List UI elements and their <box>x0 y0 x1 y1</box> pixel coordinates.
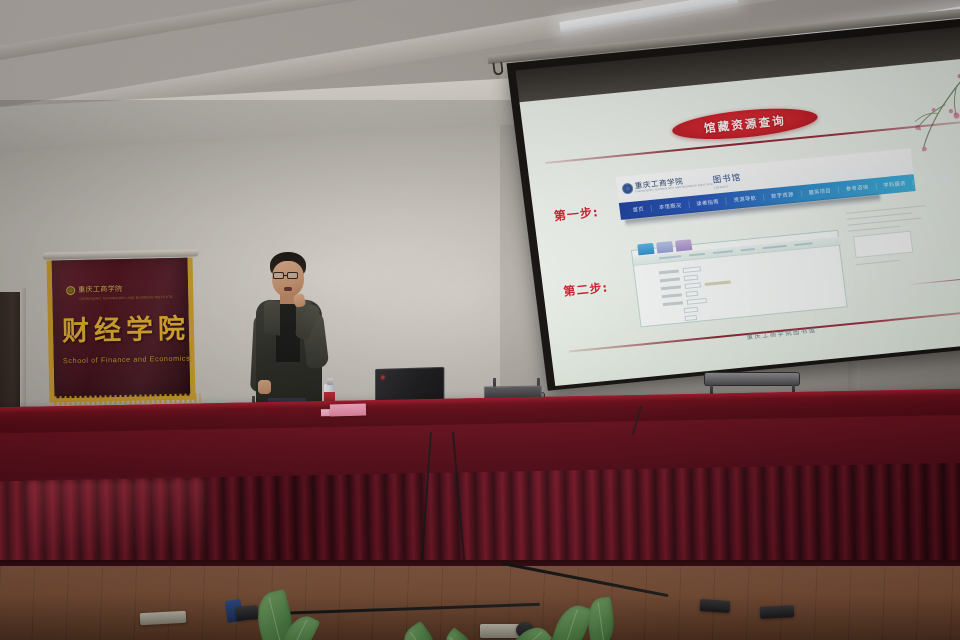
form-input[interactable] <box>685 282 702 289</box>
leaf-vein <box>290 619 307 640</box>
nav-item-6[interactable]: 参考咨询 <box>839 183 877 194</box>
bottle-cap <box>327 378 333 385</box>
form-reset[interactable] <box>685 315 698 322</box>
screen-hook-icon <box>492 62 504 76</box>
library-logo: 重庆工商学院 CHONGQING TECHNOLOGY AND BUSINESS… <box>621 175 713 195</box>
nav-item-5[interactable]: 服务项目 <box>801 186 839 197</box>
nav-item-0[interactable]: 首页 <box>625 205 652 215</box>
form-input[interactable] <box>686 291 699 298</box>
banner-title-cn: 财经学院 <box>62 316 191 346</box>
side-box <box>853 231 914 258</box>
side-line-5 <box>856 260 900 266</box>
table-skirt-highlight <box>25 479 206 552</box>
pink-folder <box>330 404 366 417</box>
leaf-vein <box>521 631 543 640</box>
nav-item-8[interactable]: 信息素养教育 <box>913 174 960 186</box>
glasses-left-lens-icon <box>273 272 284 279</box>
library-section: 图书馆 LIBRARY <box>712 171 742 190</box>
nav-item-7[interactable]: 学科服务 <box>876 179 914 190</box>
leaf-vein <box>410 631 429 640</box>
floor-device-5 <box>700 599 731 613</box>
nav-item-2[interactable]: 读者指南 <box>689 197 727 208</box>
speaker-mouth <box>284 287 292 291</box>
form-label <box>659 269 679 275</box>
header-line-2 <box>689 253 705 256</box>
plum-blossom-decoration <box>870 57 960 163</box>
nav-item-4[interactable]: 数字资源 <box>764 190 802 201</box>
slide-step-1-label: 第一步: <box>553 203 600 224</box>
laptop-logo-icon <box>381 375 384 379</box>
header-line-5 <box>763 245 787 249</box>
leaf-vein <box>598 602 605 640</box>
leaf-vein <box>269 597 282 640</box>
form-label <box>662 293 682 299</box>
banner-university-logo: 重庆工商学院 <box>66 285 123 295</box>
floor-device-3 <box>480 624 520 638</box>
form-input[interactable] <box>683 266 702 273</box>
banner-university-name: 重庆工商学院 <box>78 286 123 294</box>
form-submit[interactable] <box>684 307 699 314</box>
form-row-6 <box>685 315 698 322</box>
slide-step-2-label: 第二步: <box>562 279 609 300</box>
speaker-left-hand <box>258 380 271 394</box>
floor-device-1 <box>140 611 187 625</box>
leaf-vein <box>564 609 578 640</box>
form-input[interactable] <box>687 298 708 305</box>
tab-0[interactable] <box>637 243 654 255</box>
speaker-collar-left <box>264 298 280 336</box>
form-label <box>660 277 680 283</box>
nav-item-1[interactable]: 本馆概况 <box>652 201 690 212</box>
header-line-6 <box>794 242 812 245</box>
header-line-4 <box>741 248 755 251</box>
tab-1[interactable] <box>656 241 673 253</box>
library-seal-icon <box>621 183 633 195</box>
nav-item-3[interactable]: 资源导航 <box>726 194 764 205</box>
search-panel <box>631 230 848 328</box>
form-row-5 <box>684 307 699 314</box>
floor-device-2 <box>235 605 258 621</box>
projection-screen-assembly: 馆藏资源查询 第一步: 第二步: 重庆工商学院 CHONGQING TECHNO… <box>500 14 960 387</box>
lecture-hall-photo: 重庆工商学院 CHONGQING TECHNOLOGY AND BUSINESS… <box>0 0 960 640</box>
tab-2[interactable] <box>675 239 692 251</box>
side-line-4 <box>848 226 900 232</box>
form-input[interactable] <box>684 275 699 282</box>
speaker <box>246 252 352 412</box>
screen-frame: 馆藏资源查询 第一步: 第二步: 重庆工商学院 CHONGQING TECHNO… <box>506 18 960 391</box>
banner-cloth: 重庆工商学院 CHONGQING TECHNOLOGY AND BUSINESS… <box>47 258 196 403</box>
wall-banner: 重庆工商学院 CHONGQING TECHNOLOGY AND BUSINESS… <box>46 254 197 405</box>
presentation-slide: 馆藏资源查询 第一步: 第二步: 重庆工商学院 CHONGQING TECHNO… <box>519 57 960 386</box>
slide-title-text: 馆藏资源查询 <box>703 112 787 136</box>
form-row-4 <box>663 298 707 308</box>
search-side-column <box>844 203 939 283</box>
header-line-1 <box>659 255 681 259</box>
floor-device-6 <box>760 605 795 619</box>
glasses-right-lens-icon <box>287 272 298 279</box>
form-label <box>661 285 681 291</box>
university-seal-icon <box>66 286 75 295</box>
speaker-face <box>272 261 304 297</box>
header-line-3 <box>713 250 733 254</box>
chair-back-2 <box>704 372 800 386</box>
glasses-bridge-icon <box>284 275 288 276</box>
form-hint <box>705 281 731 287</box>
form-label <box>663 301 683 307</box>
